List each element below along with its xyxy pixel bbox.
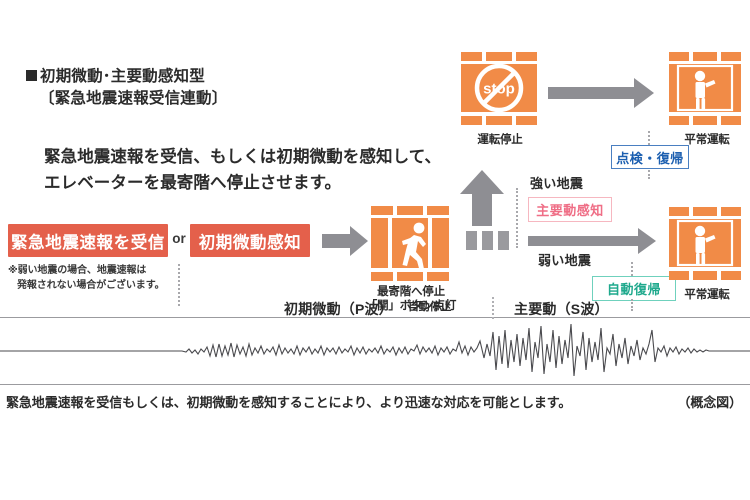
page-title: 初期微動･主要動感知型 〔緊急地震速報受信連動〕 <box>26 66 227 111</box>
dotted-divider-wave <box>492 297 494 319</box>
elevator-normal-top-icon <box>667 52 745 128</box>
or-connector-label: or <box>168 231 190 246</box>
elevator-normal-bottom-icon <box>667 207 745 283</box>
trigger-eew-box: 緊急地震速報を受信 <box>8 224 168 257</box>
label-s-wave: 主要動（S波） <box>514 299 609 319</box>
svg-text:stop: stop <box>483 81 515 98</box>
dotted-divider-inspect-top <box>648 131 650 145</box>
elevator-normal-bottom-label: 平常運転 <box>660 288 750 302</box>
footer-note: （概念図） <box>677 392 742 411</box>
eew-footnote-line2: 発報されない場合がございます。 <box>8 279 188 294</box>
page-title-line1: 初期微動･主要動感知型 <box>26 66 227 88</box>
elevator-stopped-label: 運転停止 <box>449 133 551 147</box>
eew-footnote-line1: ※弱い地震の場合、地震速報は <box>8 265 146 276</box>
page-title-text: 初期微動･主要動感知型 <box>40 68 205 85</box>
footer-caption: 緊急地震速報を受信もしくは、初期微動を感知することにより、より迅速な対応を可能と… <box>6 392 571 411</box>
dotted-divider-auto-top <box>631 262 633 276</box>
dash-segment-2 <box>482 231 493 250</box>
dash-segment-3 <box>498 231 509 250</box>
label-p-wave: 初期微動（P波） <box>284 299 393 319</box>
dotted-divider-branch <box>516 188 518 248</box>
lead-line-1: 緊急地震速報を受信、もしくは初期微動を感知して、 <box>44 145 441 171</box>
label-auto-stop: 自動停止 <box>408 298 451 314</box>
eew-footnote: ※弱い地震の場合、地震速報は 発報されない場合がございます。 <box>8 264 188 293</box>
badge-swave-detection: 主要動感知 <box>528 197 612 222</box>
diagram-canvas: 初期微動･主要動感知型 〔緊急地震速報受信連動〕 緊急地震速報を受信、もしくは初… <box>0 0 750 500</box>
lead-paragraph: 緊急地震速報を受信、もしくは初期微動を感知して、 エレベーターを最寄階へ停止させ… <box>44 145 441 196</box>
arrow-to-nearest-floor <box>322 226 368 256</box>
bullet-square-icon <box>26 70 37 81</box>
seismograph-waveform <box>0 318 750 384</box>
page-subtitle-text: 〔緊急地震速報受信連動〕 <box>26 88 227 110</box>
elevator-stopped-icon: stop <box>459 52 541 128</box>
dotted-divider-auto-bottom <box>631 299 633 311</box>
elevator-nearest-floor-icon <box>369 206 453 284</box>
badge-inspection-recovery: 点検・復帰 <box>611 145 689 169</box>
trigger-pwave-box: 初期微動感知 <box>190 224 310 257</box>
seismograph-bottom-rule <box>0 384 750 385</box>
lead-line-2: エレベーターを最寄階へ停止させます。 <box>44 171 441 197</box>
arrow-weak-to-normal <box>528 228 656 254</box>
dash-segment-1 <box>466 231 477 250</box>
arrow-inspect-to-normal <box>548 78 654 108</box>
dotted-divider-or <box>178 264 180 306</box>
arrow-strong-quake-up <box>460 170 504 226</box>
condition-strong-quake-label: 強い地震 <box>530 173 583 192</box>
